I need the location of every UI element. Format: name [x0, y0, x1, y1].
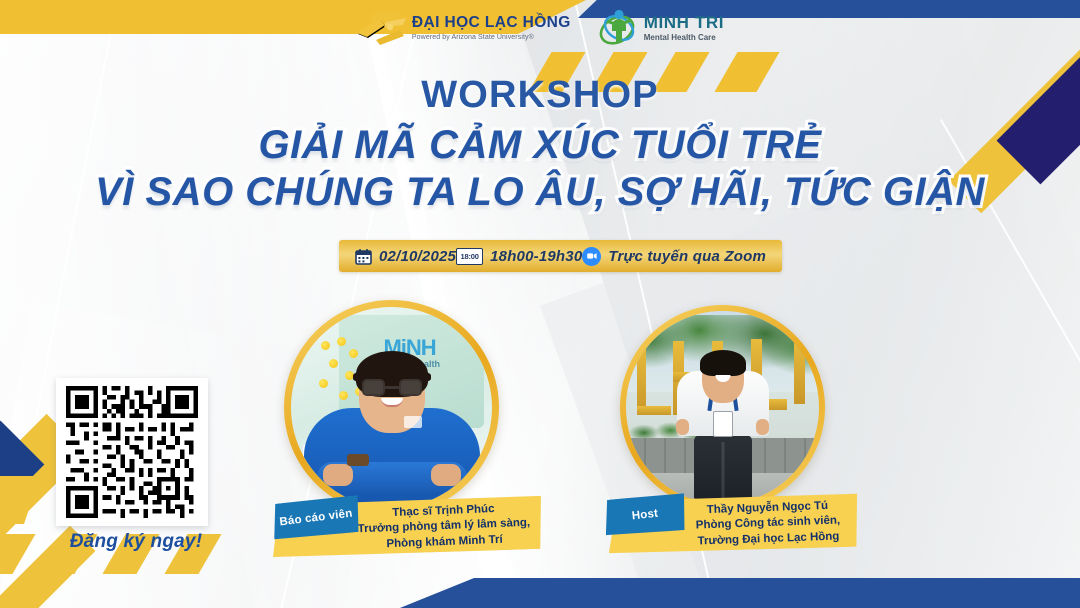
page-title-eyebrow: WORKSHOP	[0, 74, 1080, 117]
event-date: 02/10/2025	[355, 248, 456, 265]
corner-decoration-bottom-blue-bar	[390, 578, 1080, 608]
page-title-line1: GIẢI MÃ CẢM XÚC TUỔI TRẺ	[0, 123, 1080, 168]
qr-code-image	[64, 386, 200, 518]
event-time-text: 18h00-19h30	[490, 248, 582, 265]
minh-tri-logo-subtitle: Mental Health Care	[644, 34, 724, 42]
speaker-1-role: Báo cáo viên	[279, 508, 353, 529]
speaker-1-photo: MiNH Mental Health	[284, 300, 499, 515]
registration-cta-label: Đăng ký ngay!	[56, 531, 216, 553]
workshop-poster: ĐẠI HỌC LẠC HỒNG Powered by Arizona Stat…	[0, 0, 1080, 608]
speaker-2-photo	[620, 305, 825, 510]
speaker-2-role: Host	[631, 508, 658, 523]
event-platform: Trực tuyến qua Zoom	[582, 247, 766, 266]
calendar-icon	[355, 248, 372, 265]
event-time: 18:00 18h00-19h30	[456, 248, 582, 265]
photo-ring	[620, 305, 825, 510]
speaker-1-title-line2: Phòng khám Minh Trí	[386, 532, 503, 552]
event-platform-text: Trực tuyến qua Zoom	[608, 248, 766, 265]
speaker-photo-nguyen-ngoc-tu	[626, 311, 819, 504]
clock-face-text: 18:00	[461, 252, 479, 261]
zoom-video-camera-icon	[582, 247, 601, 266]
lhu-logo: ĐẠI HỌC LẠC HỒNG Powered by Arizona Stat…	[356, 8, 571, 48]
photo-ring: MiNH Mental Health	[284, 300, 499, 515]
lhu-bird-logo-icon	[356, 8, 408, 48]
event-info-bar: 02/10/2025 18:00 18h00-19h30 Trực tuyến …	[339, 240, 782, 272]
minh-tri-logo-name: MINH TRI	[644, 14, 724, 31]
lhu-logo-subtitle: Powered by Arizona State University®	[412, 34, 571, 41]
lhu-logo-name: ĐẠI HỌC LẠC HỒNG	[412, 15, 571, 31]
logo-row: ĐẠI HỌC LẠC HỒNG Powered by Arizona Stat…	[0, 8, 1080, 48]
minh-tri-logo: MINH TRI Mental Health Care	[597, 8, 724, 48]
clock-icon: 18:00	[456, 248, 483, 265]
minh-tri-person-orbit-icon	[597, 8, 639, 48]
event-date-text: 02/10/2025	[379, 248, 456, 265]
speaker-photo-trinh-phuc: MiNH Mental Health	[291, 307, 492, 508]
registration-qr-code[interactable]	[56, 378, 208, 526]
page-title-line2: VÌ SAO CHÚNG TA LO ÂU, SỢ HÃI, TỨC GIẬN	[0, 170, 1080, 215]
